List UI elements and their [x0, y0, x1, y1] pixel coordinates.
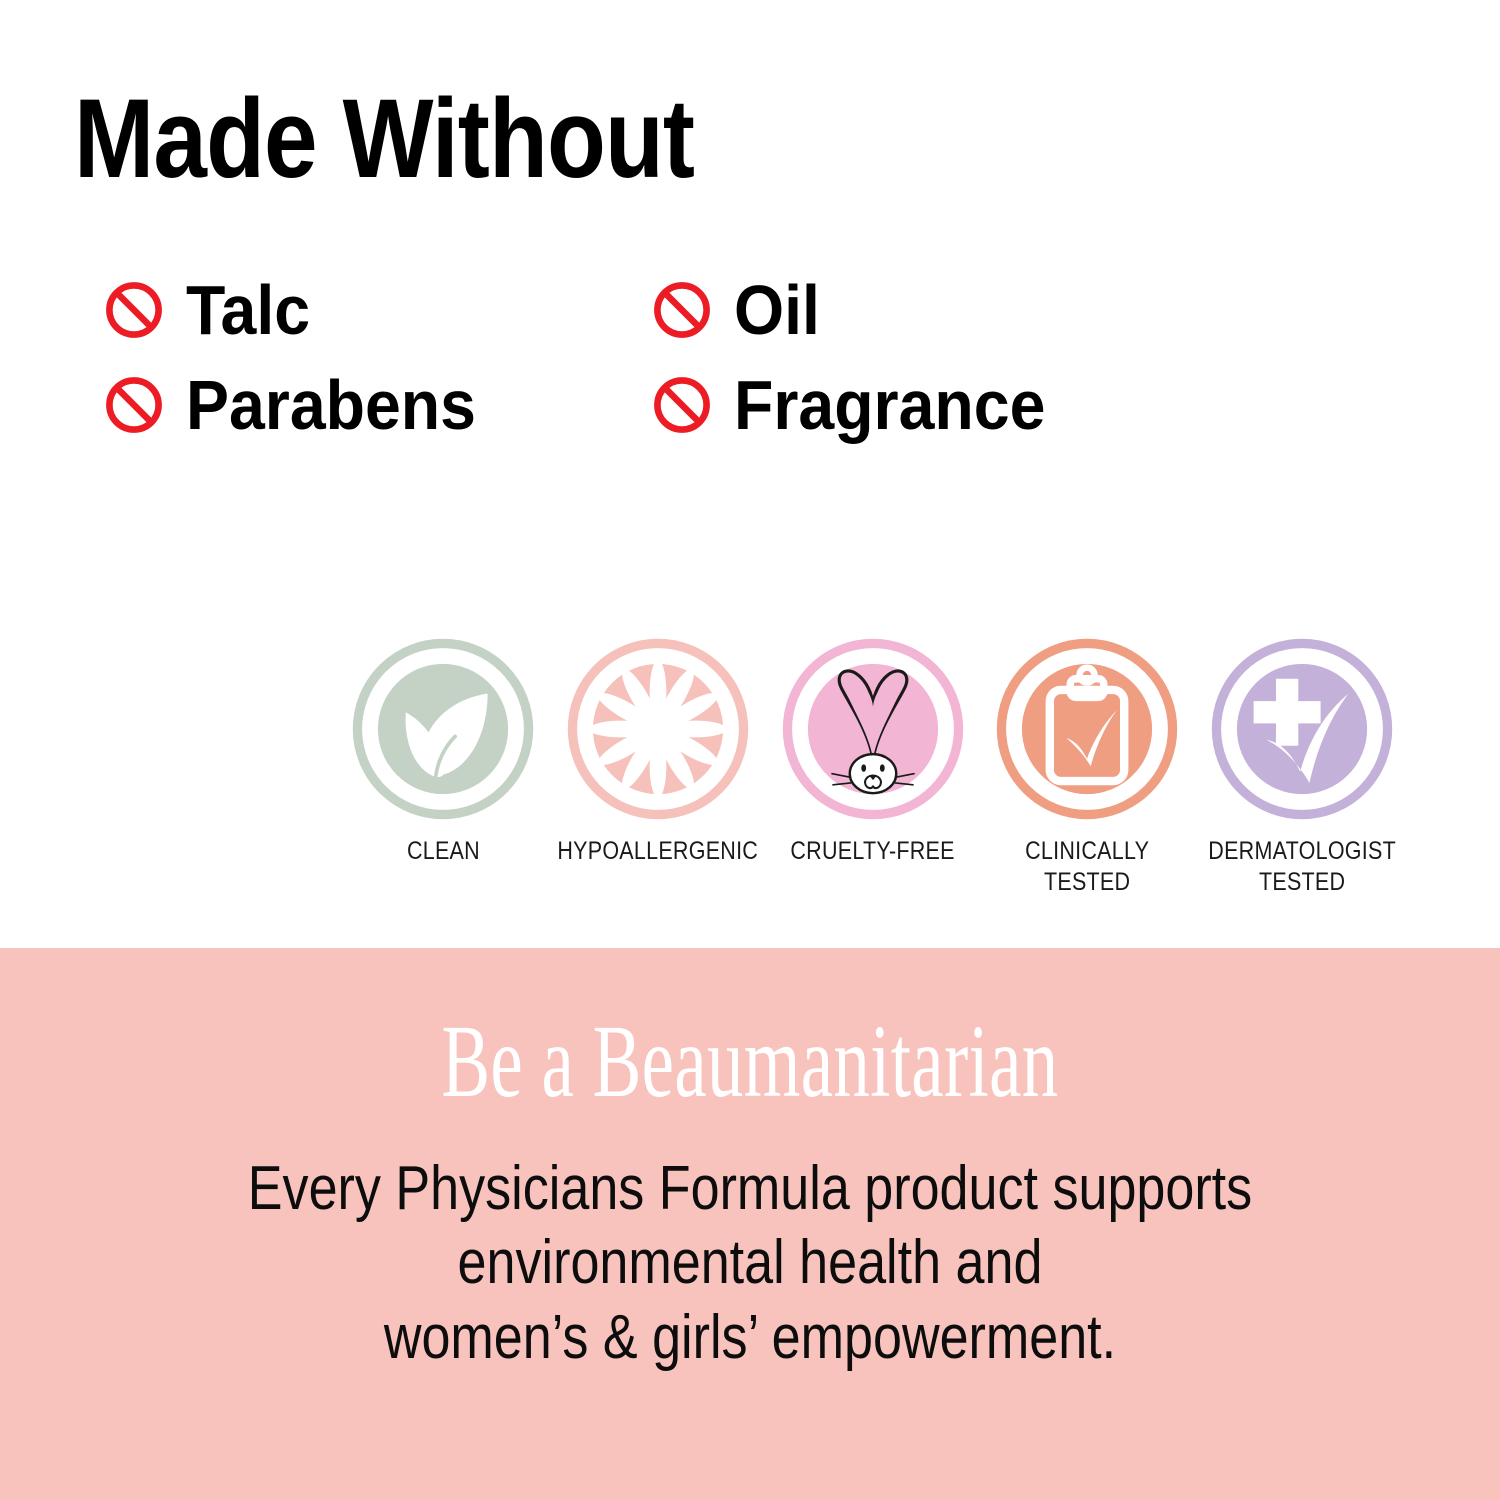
daisy-flower-icon	[565, 636, 751, 822]
badge-dermatologist-tested: DERMATOLOGIST TESTED	[1204, 636, 1400, 897]
list-item-label: Talc	[186, 275, 310, 345]
prohibition-icon	[104, 375, 164, 435]
badge-clinically-tested: CLINICALLY TESTED	[989, 636, 1185, 897]
badge-clean: CLEAN	[345, 636, 541, 867]
beaumanitarian-section: Be a Beaumanitarian Every Physicians For…	[0, 948, 1500, 1500]
section-title: Be a Beaumanitarian	[225, 1010, 1275, 1114]
product-claims-panel: Made Without Talc	[0, 0, 1500, 1500]
made-without-list: Talc Oil	[104, 262, 1244, 452]
badge-cruelty-free: CRUELTY-FREE	[775, 636, 971, 867]
medical-cross-check-icon	[1209, 636, 1395, 822]
list-item-label: Parabens	[186, 370, 476, 440]
made-without-section: Made Without Talc	[0, 0, 1500, 948]
badge-label: DERMATOLOGIST TESTED	[1208, 836, 1396, 897]
clipboard-check-icon	[994, 636, 1180, 822]
page-title: Made Without	[74, 83, 694, 195]
list-item-label: Fragrance	[734, 370, 1045, 440]
prohibition-icon	[104, 280, 164, 340]
list-item-label: Oil	[734, 275, 820, 345]
badge-hypoallergenic: HYPOALLERGENIC	[560, 636, 756, 867]
prohibition-icon	[652, 375, 712, 435]
section-body-text: Every Physicians Formula product support…	[120, 1152, 1380, 1375]
prohibition-icon	[652, 280, 712, 340]
list-item: Fragrance	[652, 357, 1212, 452]
leaves-icon	[350, 636, 536, 822]
badge-label: CLINICALLY TESTED	[1025, 836, 1149, 897]
certification-badge-row: CLEAN	[345, 636, 1400, 897]
badge-label: CLEAN	[407, 836, 480, 867]
badge-label: HYPOALLERGENIC	[557, 836, 758, 867]
badge-label: CRUELTY-FREE	[790, 836, 954, 867]
list-item: Parabens	[104, 357, 652, 452]
list-item: Oil	[652, 262, 1212, 357]
bunny-heart-icon	[780, 636, 966, 822]
list-item: Talc	[104, 262, 652, 357]
